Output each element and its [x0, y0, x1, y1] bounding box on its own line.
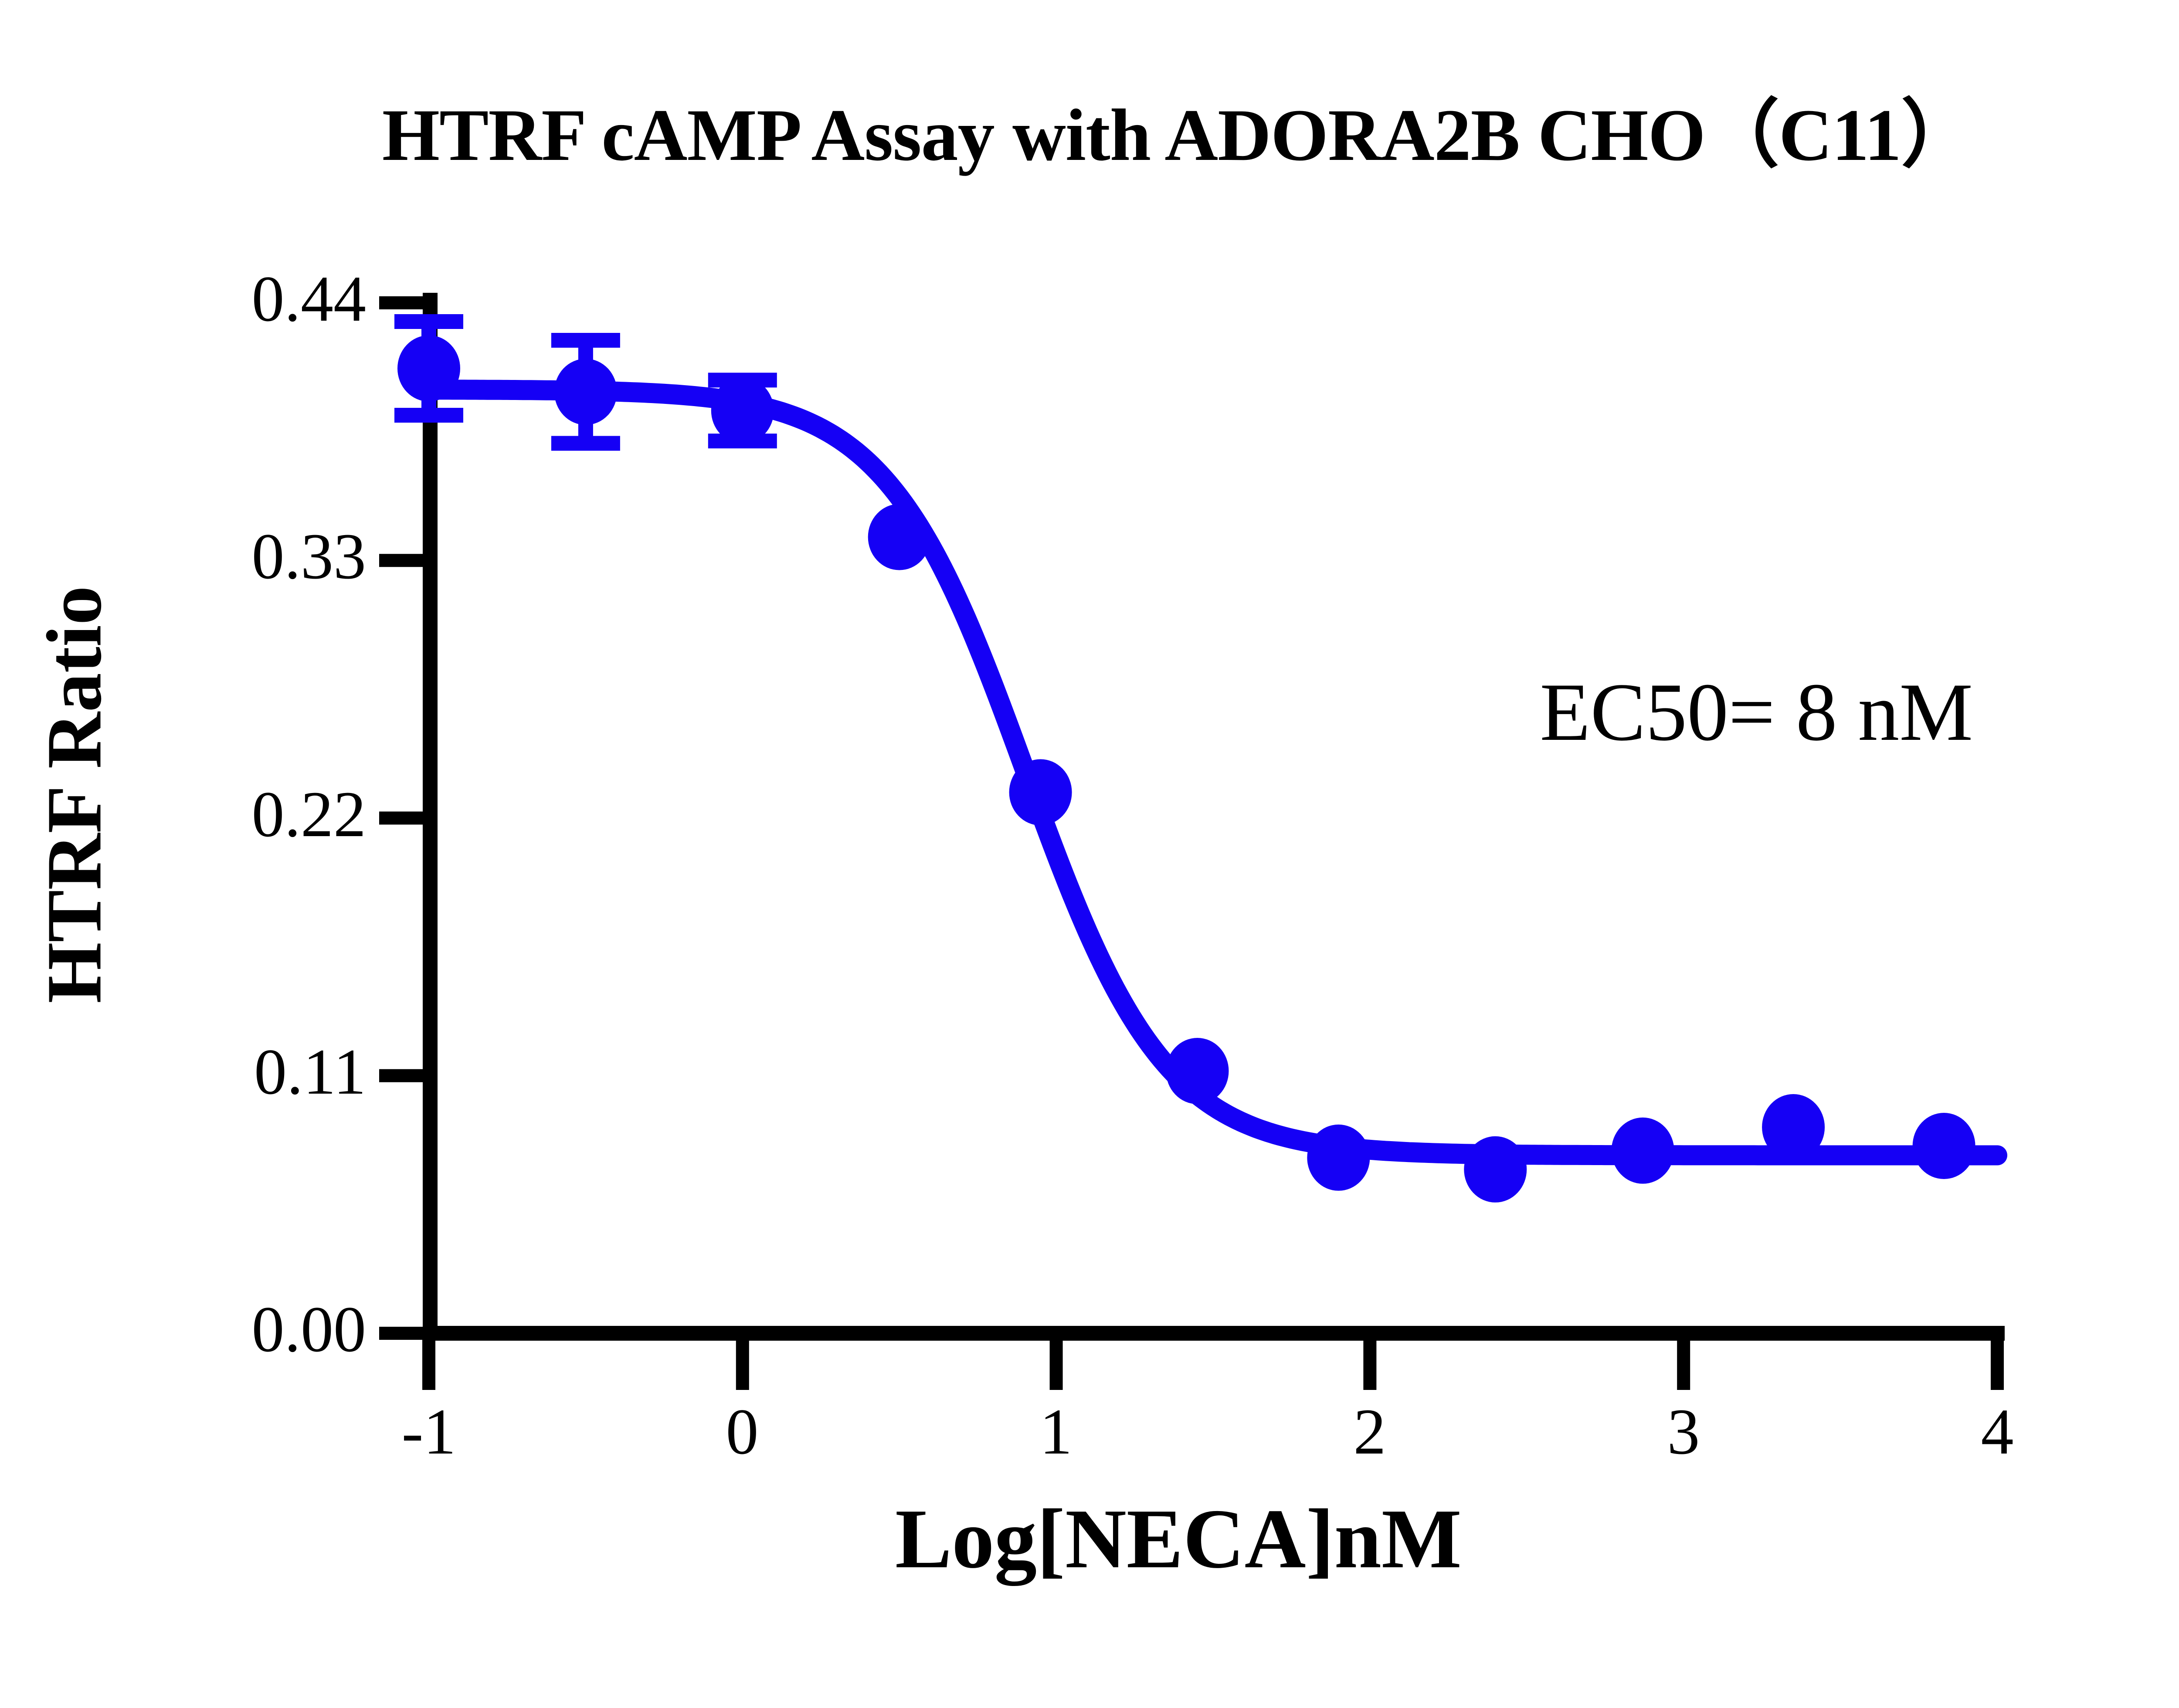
data-points — [397, 335, 1975, 1203]
y-axis-ticks — [379, 303, 430, 1333]
x-tick-label: 4 — [1910, 1394, 2084, 1469]
x-tick-label: 1 — [969, 1394, 1143, 1469]
data-point — [1612, 1118, 1674, 1184]
y-tick-label: 0.00 — [148, 1292, 366, 1367]
data-point — [1913, 1113, 1975, 1179]
data-point — [397, 335, 460, 402]
ec50-annotation: EC50= 8 nM — [1540, 665, 1973, 760]
data-point — [1009, 759, 1072, 825]
data-point — [711, 377, 774, 444]
y-tick-label: 0.33 — [148, 519, 366, 594]
x-tick-label: -1 — [342, 1394, 516, 1469]
y-tick-label: 0.11 — [148, 1034, 366, 1109]
x-axis-title: Log[NECA]nM — [0, 1490, 2179, 1588]
chart-figure: HTRF cAMP Assay with ADORA2B CHO（C11） 0.… — [0, 0, 2179, 1708]
y-tick-label: 0.44 — [148, 261, 366, 336]
data-point — [554, 359, 617, 425]
x-tick-label: 0 — [655, 1394, 829, 1469]
x-tick-label: 2 — [1283, 1394, 1457, 1469]
y-axis-title: HTRF Ratio — [29, 577, 119, 1013]
fit-curve — [429, 390, 1997, 1155]
y-tick-label: 0.22 — [148, 777, 366, 852]
x-tick-label: 3 — [1596, 1394, 1771, 1469]
axis-lines — [423, 293, 2005, 1333]
x-axis-ticks — [429, 1333, 1997, 1390]
data-point — [1464, 1136, 1527, 1203]
data-point — [868, 504, 931, 570]
data-point — [1166, 1038, 1229, 1104]
data-point — [1307, 1125, 1370, 1191]
data-point — [1762, 1094, 1825, 1160]
